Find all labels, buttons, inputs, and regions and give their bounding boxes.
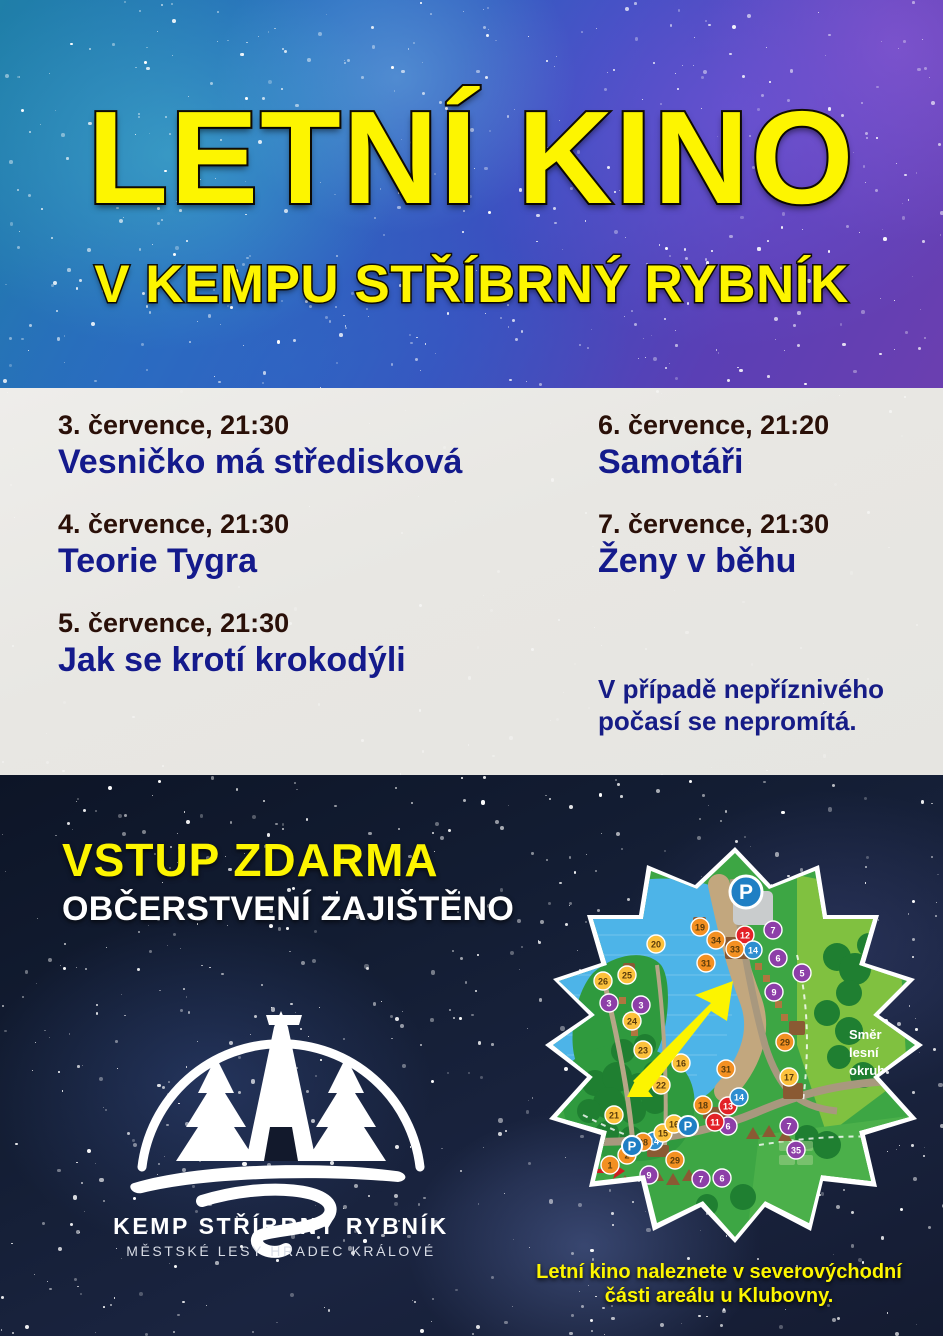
map-marker-label: 29 [780, 1038, 790, 1048]
map-marker-label: 3 [606, 999, 611, 1009]
schedule-column-right: 6. července, 21:20 Samotáři 7. července,… [598, 410, 943, 608]
page-subtitle: V KEMPU STŘÍBRNÝ RYBNÍK [0, 258, 943, 311]
map-marker-label: 21 [609, 1111, 619, 1121]
map-marker-label: 7 [770, 926, 775, 936]
map-parking-label: P [684, 1118, 693, 1133]
map-trail-label-line1: Směr [849, 1027, 882, 1042]
map-marker-label: 35 [791, 1146, 801, 1156]
show-title: Samotáři [598, 442, 943, 483]
map-marker-label: 14 [734, 1093, 744, 1103]
show-title: Jak se krotí krokodýli [58, 640, 568, 681]
map-marker-label: 18 [698, 1101, 708, 1111]
map-marker-label: 20 [651, 940, 661, 950]
map-marker-label: 25 [622, 971, 632, 981]
poster-header: LETNÍ KINO V KEMPU STŘÍBRNÝ RYBNÍK [0, 0, 943, 388]
map-marker-label: 12 [740, 931, 750, 941]
weather-note-line2: počasí se nepromítá. [598, 706, 943, 738]
map-caption-line1: Letní kino naleznete v severovýchodní [495, 1260, 943, 1284]
map-marker-label: 3 [638, 1001, 643, 1011]
map-marker-label: 24 [627, 1017, 637, 1027]
camp-logo: KEMP STŘÍBRNÝ RYBNÍK MĚSTSKÉ LESY HRADEC… [106, 975, 456, 1275]
poster-footer: VSTUP ZDARMA OBČERSTVENÍ ZAJIŠTĚNO [0, 775, 943, 1336]
map-marker-label: 5 [799, 969, 804, 979]
show-date: 6. července, 21:20 [598, 410, 943, 441]
map-marker-label: 17 [784, 1073, 794, 1083]
map-marker-label: 1 [607, 1161, 612, 1171]
refreshments-text: OBČERSTVENÍ ZAJIŠTĚNO [62, 890, 514, 929]
show-title: Teorie Tygra [58, 541, 568, 582]
camp-logo-name: KEMP STŘÍBRNÝ RYBNÍK [106, 1213, 456, 1240]
map-marker-label: 29 [670, 1156, 680, 1166]
schedule-item: 3. července, 21:30 Vesničko má středisko… [58, 410, 568, 483]
schedule-item: 5. července, 21:30 Jak se krotí krokodýl… [58, 608, 568, 681]
free-entry-text: VSTUP ZDARMA [62, 833, 439, 887]
weather-note-line1: V případě nepříznivého [598, 674, 943, 706]
poster-root: LETNÍ KINO V KEMPU STŘÍBRNÝ RYBNÍK 3. če… [0, 0, 943, 1336]
schedule-panel: 3. července, 21:30 Vesničko má středisko… [0, 388, 943, 775]
map-marker-label: 33 [730, 945, 740, 955]
map-marker-label: 16 [676, 1059, 686, 1069]
weather-note: V případě nepříznivého počasí se nepromí… [598, 674, 943, 737]
show-title: Ženy v běhu [598, 541, 943, 582]
show-title: Vesničko má středisková [58, 442, 568, 483]
map-marker-label: 6 [719, 1174, 724, 1184]
map-parking-label: P [628, 1138, 637, 1153]
camp-logo-subtitle: MĚSTSKÉ LESY HRADEC KRÁLOVÉ [106, 1243, 456, 1259]
camp-map[interactable]: Směr lesní okruh 12335666777991112131414… [497, 845, 943, 1245]
map-marker-label: 14 [748, 946, 758, 956]
map-marker-label: 7 [786, 1122, 791, 1132]
show-date: 5. července, 21:30 [58, 608, 568, 639]
show-date: 4. července, 21:30 [58, 509, 568, 540]
map-marker-label: 11 [710, 1118, 720, 1128]
map-marker-label: 31 [701, 959, 711, 969]
map-marker-label: 22 [656, 1081, 666, 1091]
map-marker-label: 6 [725, 1122, 730, 1132]
schedule-column-left: 3. července, 21:30 Vesničko má středisko… [58, 410, 568, 707]
map-caption: Letní kino naleznete v severovýchodní čá… [495, 1260, 943, 1309]
schedule-item: 4. července, 21:30 Teorie Tygra [58, 509, 568, 582]
schedule-item: 6. července, 21:20 Samotáři [598, 410, 943, 483]
show-date: 7. července, 21:30 [598, 509, 943, 540]
map-marker-label: 23 [638, 1046, 648, 1056]
map-trail-label-line2: lesní [849, 1045, 879, 1060]
show-date: 3. července, 21:30 [58, 410, 568, 441]
map-marker-label: 6 [775, 954, 780, 964]
map-marker-label: 19 [695, 923, 705, 933]
schedule-item: 7. července, 21:30 Ženy v běhu [598, 509, 943, 582]
map-marker-label: 26 [598, 977, 608, 987]
map-parking-label: P [739, 881, 753, 904]
map-marker-label: 34 [711, 936, 721, 946]
map-marker-label: 9 [771, 988, 776, 998]
map-marker-label: 7 [698, 1175, 703, 1185]
map-marker-label: 9 [646, 1171, 651, 1181]
map-marker-label: 31 [721, 1065, 731, 1075]
map-caption-line2: části areálu u Klubovny. [495, 1284, 943, 1308]
page-title: LETNÍ KINO [0, 92, 943, 224]
